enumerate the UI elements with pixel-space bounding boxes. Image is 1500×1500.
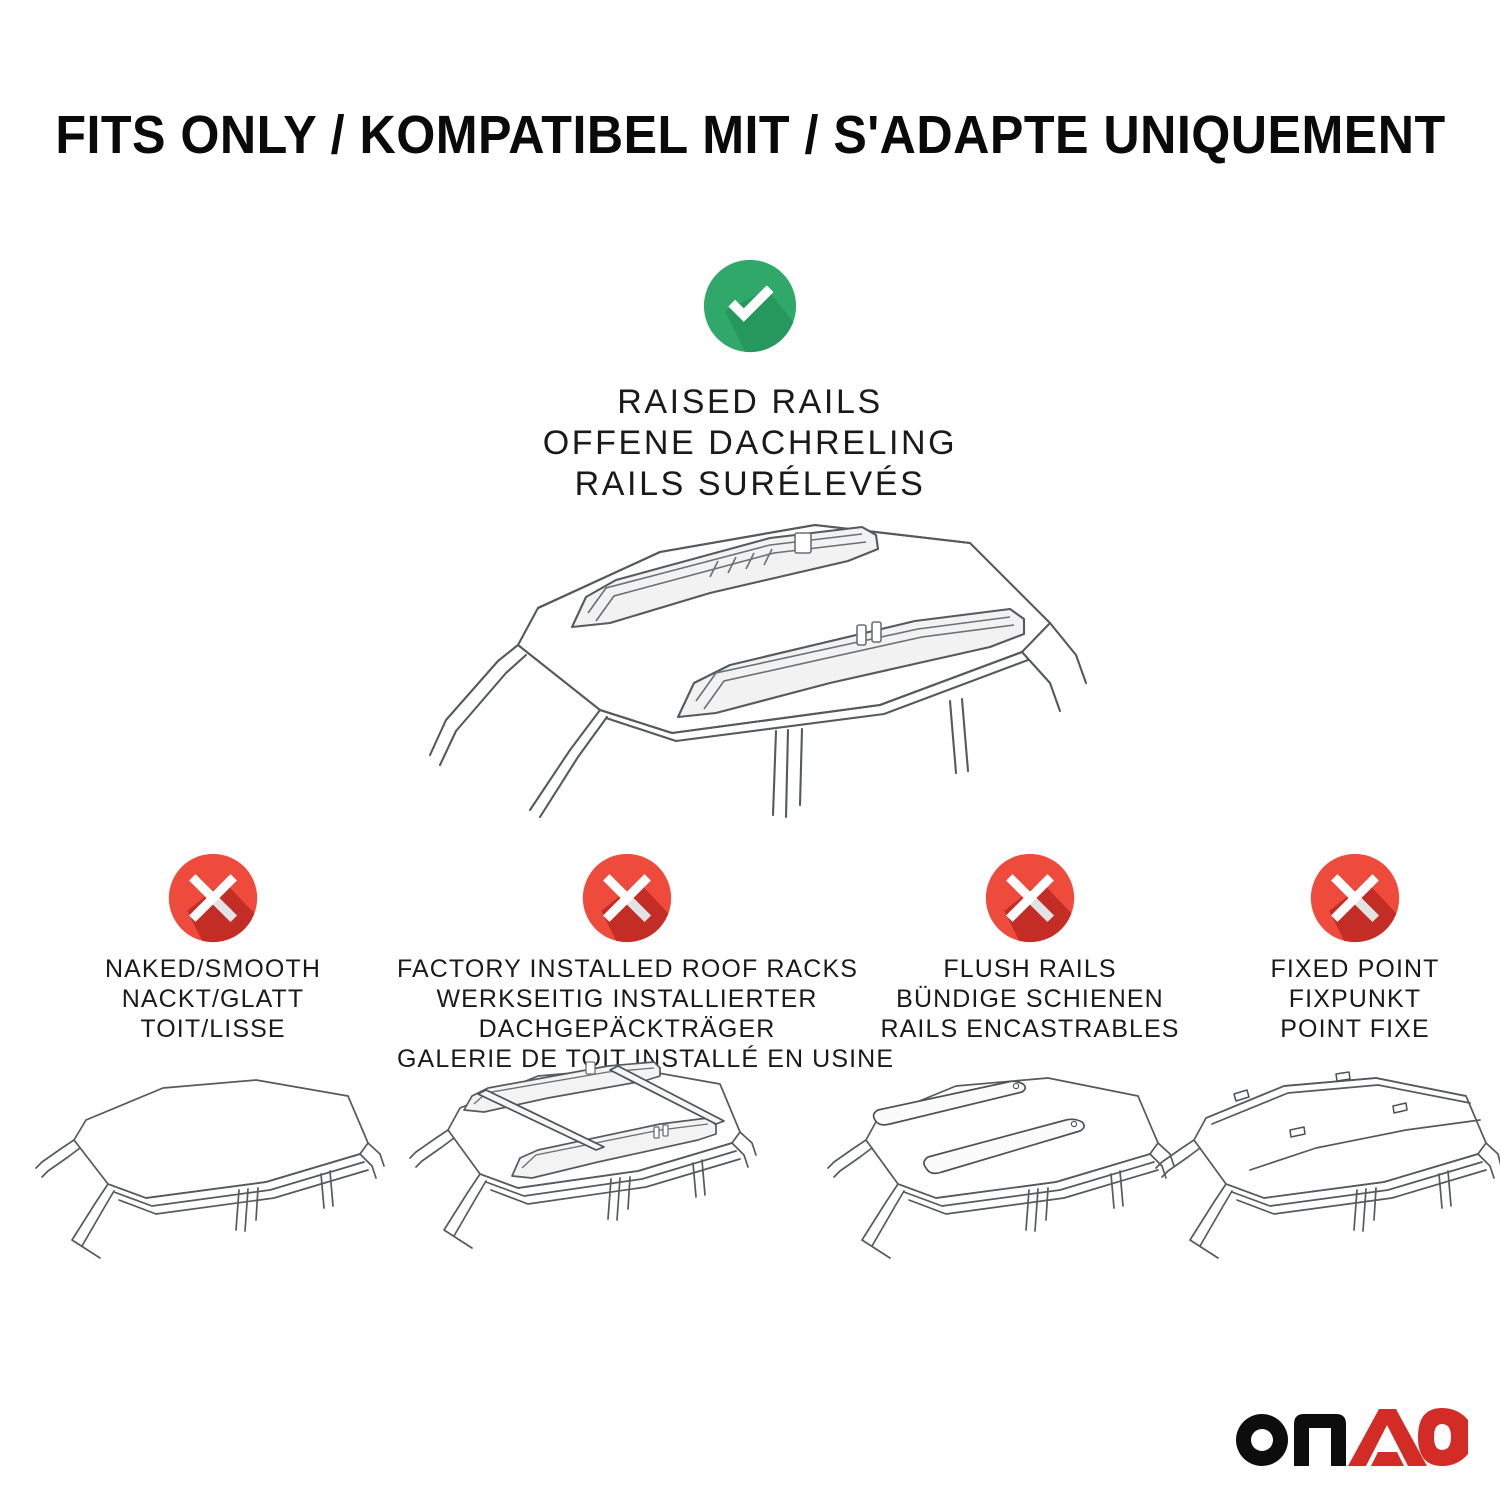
red-x-circle-icon (167, 852, 259, 944)
label-line-1: FLUSH RAILS (860, 954, 1200, 984)
incompatible-row: NAKED/SMOOTH NACKT/GLATT TOIT/LISSE FACT… (0, 852, 1500, 1062)
label-line-1: FIXED POINT (1205, 954, 1500, 984)
compatible-label-line-3: RAILS SURÉLEVÉS (0, 464, 1500, 505)
label-line-2: NACKT/GLATT (43, 984, 383, 1014)
car-roof-factory-racks-illustration (398, 1048, 760, 1298)
red-x-circle-icon (581, 852, 673, 944)
car-roof-flush-rails-illustration (818, 1058, 1180, 1308)
compatible-section: RAISED RAILS OFFENE DACHRELING RAILS SUR… (0, 258, 1500, 505)
logo-letter-m (1294, 1414, 1346, 1466)
logo-letter-c (1418, 1408, 1468, 1466)
incompatible-item-fixed-point: FIXED POINT FIXPUNKT POINT FIXE (1205, 852, 1500, 1044)
red-x-circle-icon (1309, 852, 1401, 944)
label-line-3: DACHGEPÄCKTRÄGER (397, 1014, 857, 1044)
incompatible-item-factory-roof-racks: FACTORY INSTALLED ROOF RACKS WERKSEITIG … (397, 852, 857, 1074)
omac-logo (1232, 1406, 1468, 1468)
label-line-1: NAKED/SMOOTH (43, 954, 383, 984)
label-line-3: TOIT/LISSE (43, 1014, 383, 1044)
label-line-3: POINT FIXE (1205, 1014, 1500, 1044)
compatible-label-group: RAISED RAILS OFFENE DACHRELING RAILS SUR… (0, 382, 1500, 505)
compatible-label-line-2: OFFENE DACHRELING (0, 423, 1500, 464)
incompatible-item-flush-rails: FLUSH RAILS BÜNDIGE SCHIENEN RAILS ENCAS… (860, 852, 1200, 1044)
car-roof-fixed-point-illustration (1150, 1058, 1500, 1308)
logo-letter-o (1236, 1414, 1288, 1466)
label-group-flush-rails: FLUSH RAILS BÜNDIGE SCHIENEN RAILS ENCAS… (860, 954, 1200, 1044)
label-line-2: FIXPUNKT (1205, 984, 1500, 1014)
page-title-bar: FITS ONLY / KOMPATIBEL MIT / S'ADAPTE UN… (0, 104, 1500, 166)
logo-letter-a (1348, 1409, 1427, 1466)
label-group-naked-smooth: NAKED/SMOOTH NACKT/GLATT TOIT/LISSE (43, 954, 383, 1044)
label-line-2: WERKSEITIG INSTALLIERTER (397, 984, 857, 1014)
label-line-3: RAILS ENCASTRABLES (860, 1014, 1200, 1044)
red-x-circle-icon (984, 852, 1076, 944)
car-roof-raised-rails-illustration (410, 505, 1100, 835)
page-title: FITS ONLY / KOMPATIBEL MIT / S'ADAPTE UN… (55, 104, 1445, 166)
compatible-label-line-1: RAISED RAILS (0, 382, 1500, 423)
incompatible-item-naked-smooth: NAKED/SMOOTH NACKT/GLATT TOIT/LISSE (43, 852, 383, 1044)
label-group-fixed-point: FIXED POINT FIXPUNKT POINT FIXE (1205, 954, 1500, 1044)
label-line-2: BÜNDIGE SCHIENEN (860, 984, 1200, 1014)
label-line-1: FACTORY INSTALLED ROOF RACKS (397, 954, 857, 984)
car-roof-naked-smooth-illustration (28, 1058, 390, 1308)
green-check-circle-icon (702, 258, 798, 354)
